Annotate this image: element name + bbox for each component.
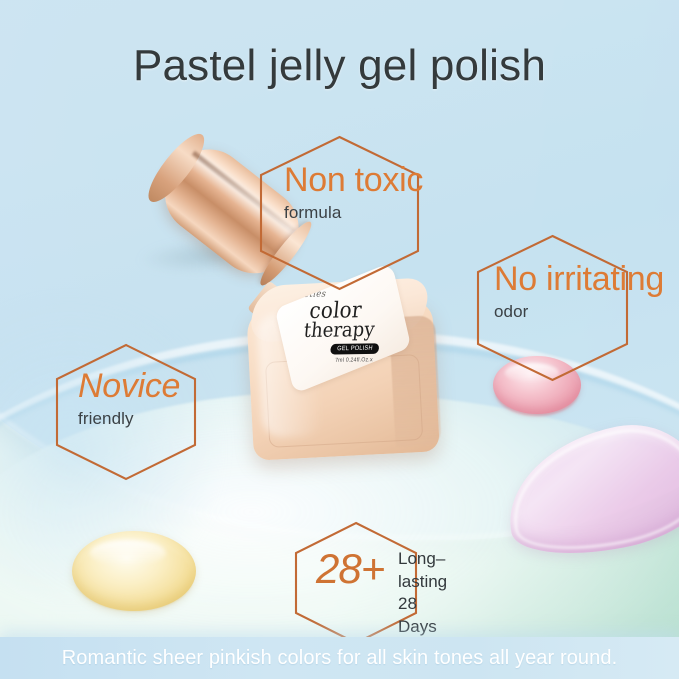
bottom-banner: Romantic sheer pinkish colors for all sk… bbox=[0, 637, 679, 679]
pink-jelly-disc bbox=[493, 356, 581, 414]
page-title: Pastel jelly gel polish bbox=[0, 41, 679, 91]
product-name-line2: therapy bbox=[303, 320, 376, 340]
product-volume: 7ml 0.24fl.Oz.x bbox=[335, 357, 373, 364]
bottom-banner-text: Romantic sheer pinkish colors for all sk… bbox=[62, 647, 618, 670]
product-banner-image: Beetles color therapy GEL POLISH 7ml 0.2… bbox=[0, 0, 679, 679]
product-type-pill: GEL POLISH bbox=[330, 343, 380, 354]
nail-polish-bottle: Beetles color therapy GEL POLISH 7ml 0.2… bbox=[130, 205, 460, 495]
pink-jelly-disc-highlight bbox=[505, 363, 559, 383]
yellow-jelly-disc-highlight bbox=[90, 540, 166, 566]
yellow-jelly-disc bbox=[72, 531, 196, 611]
